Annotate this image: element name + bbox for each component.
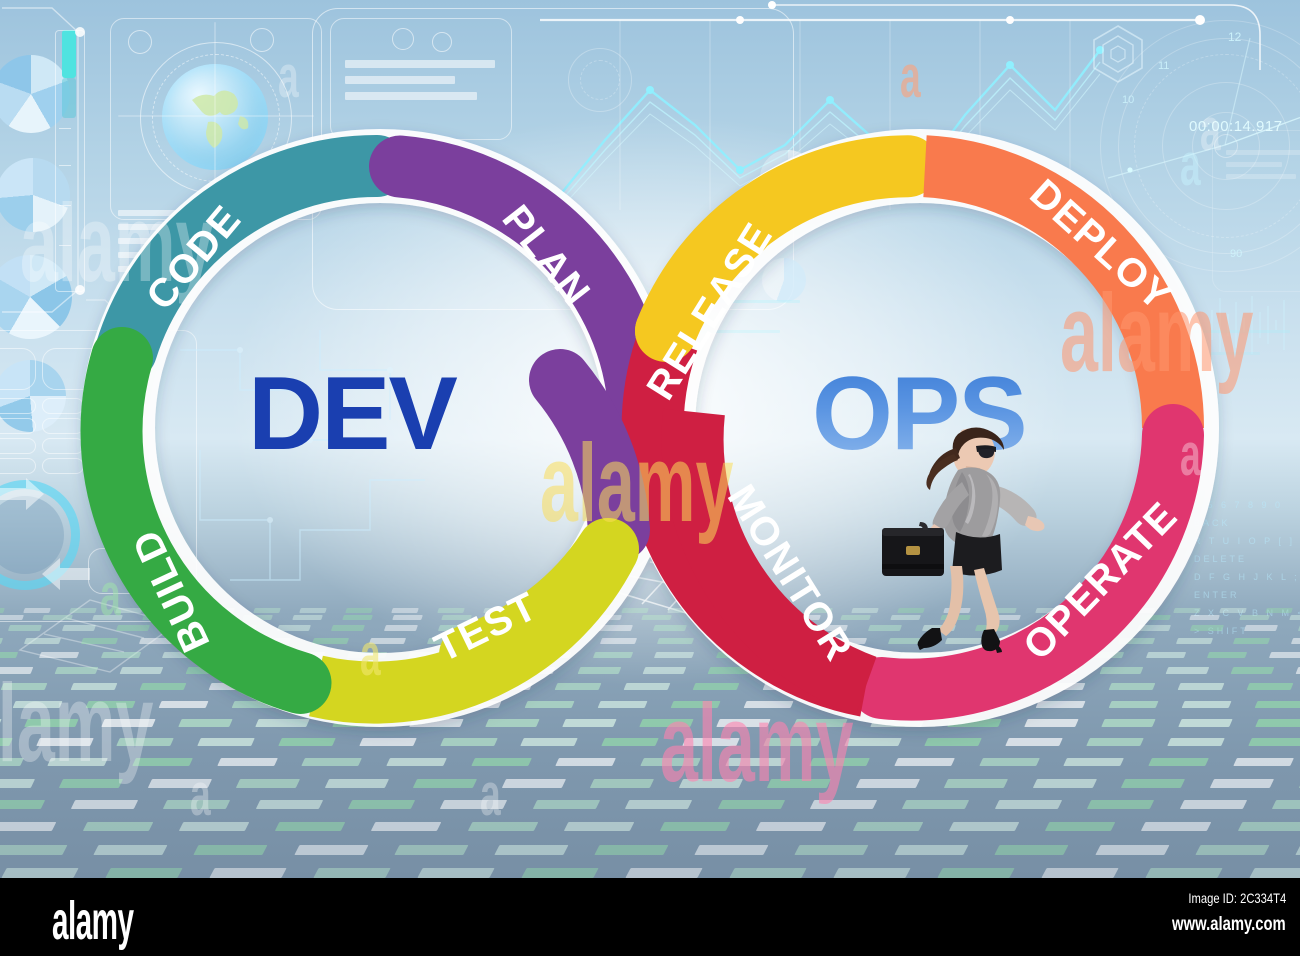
alamy-logo: alamy	[52, 890, 133, 952]
devops-infinity-loop: CODE PLAN RELEASE DEPLOY OPERATE MONITOR…	[0, 0, 1300, 878]
alamy-website-label: www.alamy.com	[1172, 914, 1286, 936]
businesswoman-figure	[858, 424, 1068, 656]
image-id-label: Image ID: 2C334T4	[1188, 890, 1286, 906]
screenshot-root: 12 11 01 10 90 50 00:00:14.917 4 5 6 7 8…	[0, 0, 1300, 956]
segment-plan-front	[560, 380, 619, 530]
dev-label: DEV	[248, 362, 456, 466]
alamy-footer: alamy Image ID: 2C334T4 www.alamy.com	[0, 878, 1300, 956]
artwork-canvas: 12 11 01 10 90 50 00:00:14.917 4 5 6 7 8…	[0, 0, 1300, 878]
